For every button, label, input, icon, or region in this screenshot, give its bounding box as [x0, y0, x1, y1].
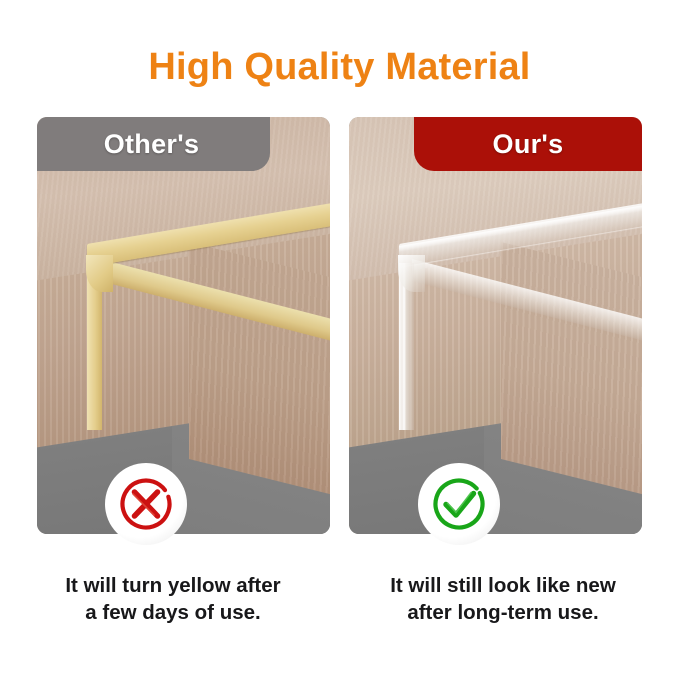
caption-our-line2: after long-term use. [338, 599, 668, 626]
caption-other-line1: It will turn yellow after [65, 574, 280, 597]
product-photo-other [37, 117, 330, 534]
caption-our: It will still look like new after long-t… [338, 572, 668, 626]
comparison-panel-our: Our's [349, 117, 642, 534]
cross-icon [118, 476, 174, 532]
badge-our: Our's [414, 117, 642, 171]
badge-other: Other's [37, 117, 270, 171]
check-icon [431, 476, 487, 532]
badge-other-label: Other's [104, 129, 200, 160]
badge-our-label: Our's [493, 129, 564, 160]
captions: It will turn yellow after a few days of … [0, 572, 679, 642]
table-side-face [189, 242, 330, 503]
caption-other-line2: a few days of use. [8, 599, 338, 626]
status-mark-negative [105, 463, 187, 545]
product-photo-our [349, 117, 642, 534]
caption-our-line1: It will still look like new [390, 574, 616, 597]
caption-other: It will turn yellow after a few days of … [8, 572, 338, 626]
comparison-panel-other: Other's [37, 117, 330, 534]
status-mark-positive [418, 463, 500, 545]
page-title: High Quality Material [0, 46, 679, 89]
table-side-face [501, 242, 642, 503]
